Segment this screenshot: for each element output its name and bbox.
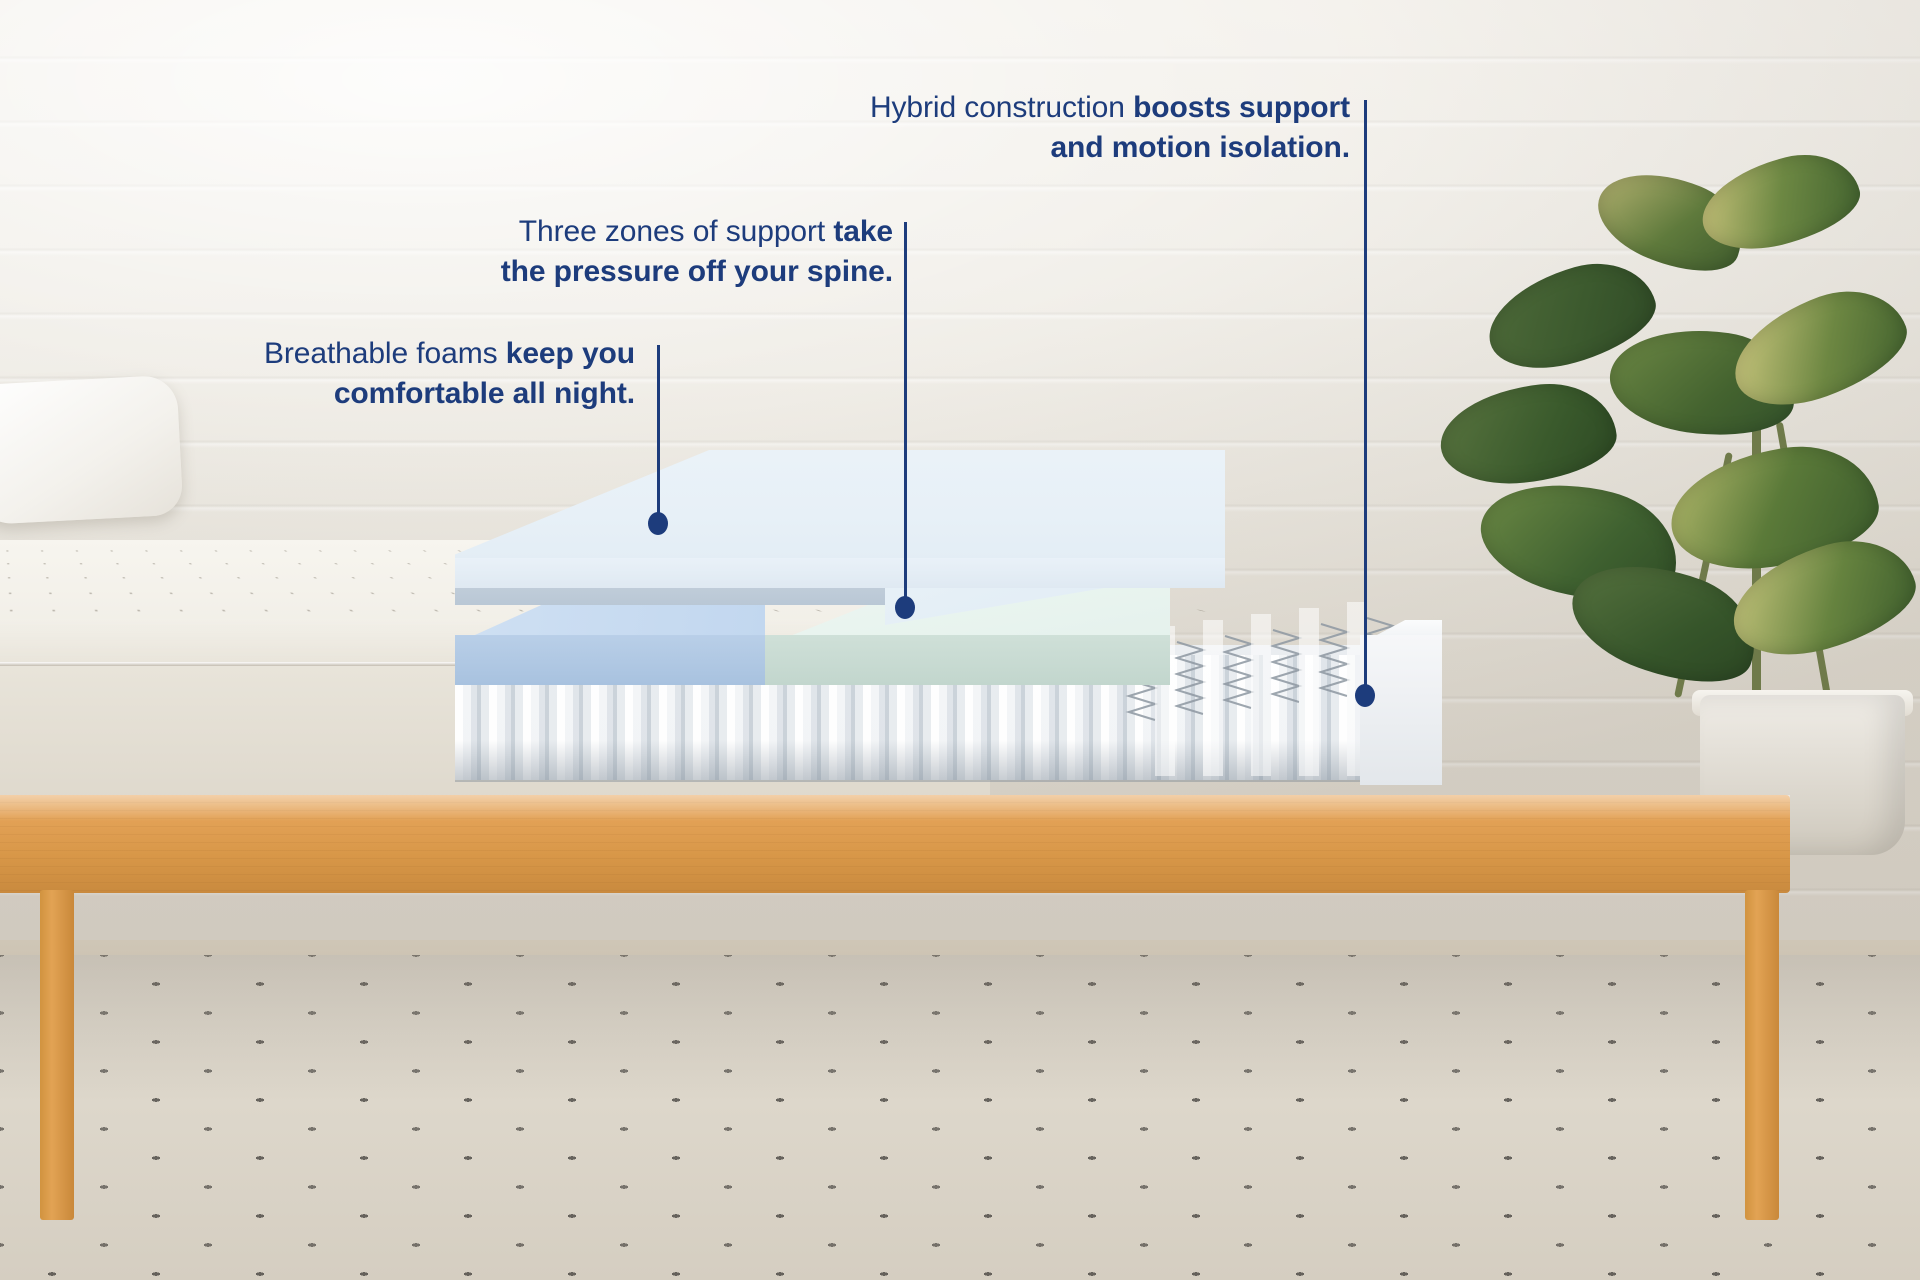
zoned-foam-green-front <box>750 635 1170 685</box>
callout-foams-line1-regular: Breathable foams <box>264 337 506 370</box>
callout-hybrid-line1-regular: Hybrid construction <box>870 91 1133 124</box>
callout-zones-line1-regular: Three zones of support <box>519 215 834 248</box>
rug-shadow <box>0 955 1920 1280</box>
mattress-cutaway-diagram <box>455 440 1465 800</box>
comfort-foam-front <box>455 558 1225 588</box>
leader-line-zones <box>904 222 907 607</box>
leader-line-hybrid <box>1364 100 1367 695</box>
coil-base-right-cap <box>1360 635 1442 785</box>
bed-leg-right <box>1745 890 1779 1220</box>
callout-foams-line2: comfortable all night. <box>205 374 635 414</box>
callout-hybrid-line1: Hybrid construction boosts support <box>770 88 1350 128</box>
infographic-canvas: Hybrid construction boosts support and m… <box>0 0 1920 1280</box>
callout-foams-line1-bold: keep you <box>506 337 635 370</box>
callout-foams-line1: Breathable foams keep you <box>205 334 635 374</box>
callout-three-zones: Three zones of support take the pressure… <box>448 212 893 291</box>
callout-zones-line1-bold: take <box>833 215 893 248</box>
callout-breathable-foams: Breathable foams keep you comfortable al… <box>205 334 635 413</box>
leader-line-foams <box>657 345 660 525</box>
callout-hybrid-line1-bold: boosts support <box>1133 91 1350 124</box>
comfort-foam-top <box>455 450 1225 560</box>
callout-hybrid-line2: and motion isolation. <box>770 128 1350 168</box>
callout-zones-line1: Three zones of support take <box>448 212 893 252</box>
rubber-plant <box>1400 150 1920 830</box>
leader-dot-zones <box>895 596 915 619</box>
leader-dot-hybrid <box>1355 684 1375 707</box>
leader-dot-foams <box>648 512 668 535</box>
zoned-foam-blue-front <box>455 635 765 685</box>
callout-hybrid-construction: Hybrid construction boosts support and m… <box>770 88 1350 167</box>
bed-leg-left <box>40 890 74 1220</box>
pillow <box>0 375 184 526</box>
callout-zones-line2: the pressure off your spine. <box>448 252 893 292</box>
